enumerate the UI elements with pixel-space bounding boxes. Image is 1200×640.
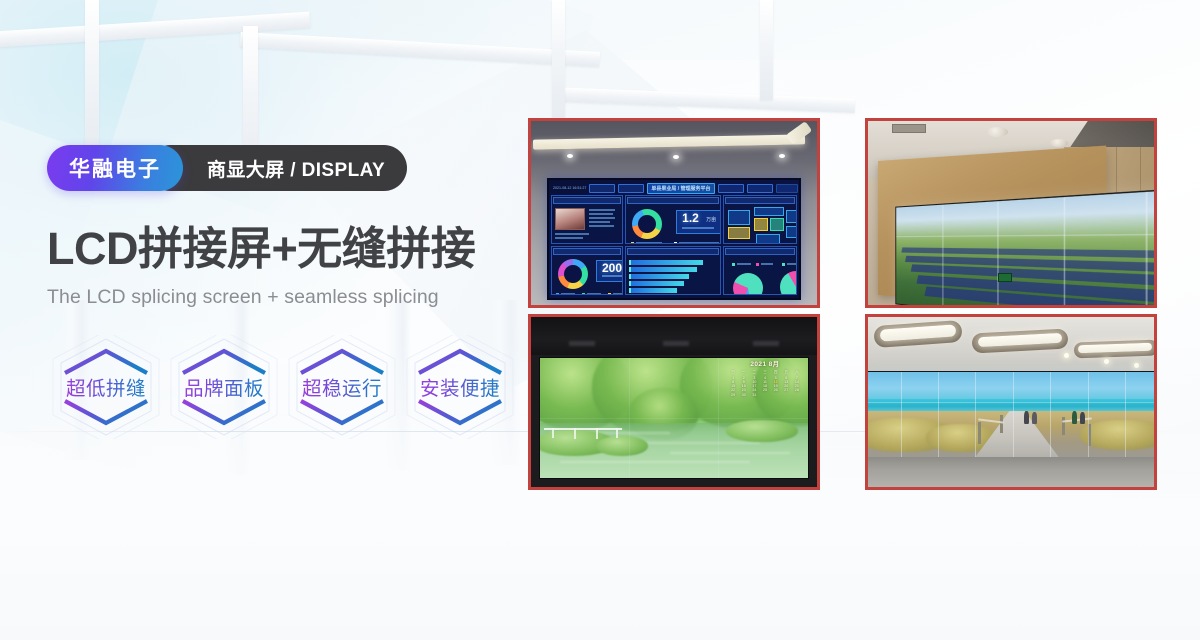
exit-sign (998, 273, 1012, 282)
dashboard-nav-chip (776, 184, 798, 193)
ceiling-downlight (567, 154, 573, 158)
calendar-day-grid: 1234567891011121314151617181920212223242… (728, 377, 802, 398)
page-subtitle: The LCD splicing screen + seamless splic… (47, 286, 527, 309)
feature-badge-1: 超低拼缝 (47, 335, 165, 439)
dashboard-panel-planting-scale: 2000 亩 (551, 246, 623, 295)
calendar-weekday: 二 (749, 371, 759, 375)
dashboard-title-chip: 单县果业局 / 管理服务平台 (647, 183, 714, 194)
background-beam-vertical-3 (552, 0, 565, 120)
feature-badge-label: 品牌面板 (184, 372, 264, 401)
background-beam-vertical-1 (85, 0, 99, 150)
sea-band (868, 399, 1154, 411)
ceiling-spotlight (1104, 359, 1109, 364)
banner-content: 商显大屏 / DISPLAY 华融电子 LCD拼接屏+无缝拼接 The LCD … (47, 145, 527, 439)
calendar-weekday: 一 (739, 371, 749, 375)
calendar-day: 28 (792, 389, 802, 393)
ceiling-dome-light (1050, 139, 1068, 147)
calendar-day: 27 (781, 389, 791, 393)
dashboard-kpi-value: 2000 (602, 261, 623, 275)
calendar-day: 25 (760, 389, 770, 393)
ceiling-downlight (673, 155, 679, 159)
dashboard-nav-chip (747, 184, 773, 193)
brand-badge: 商显大屏 / DISPLAY 华融电子 (47, 145, 527, 191)
feature-badge-label: 超低拼缝 (66, 372, 146, 401)
calendar-day: 29 (728, 394, 738, 398)
dashboard-panel-overview (551, 195, 623, 244)
dashboard-panel-grid: 1.2 万亩 (551, 195, 797, 295)
category-pill: 商显大屏 / DISPLAY (147, 145, 407, 191)
calendar-weekday: 四 (771, 371, 781, 375)
calendar-overlay: 2021 8月 日 一 二 三 四 五 六 123456789101112131… (728, 362, 802, 420)
background-facet-e (700, 520, 1080, 640)
calendar-title: 2021 8月 (728, 362, 802, 369)
dashboard-nav-chip (718, 184, 744, 193)
photo-beach-boardwalk-video-wall (865, 314, 1157, 490)
exhibition-room-scene: 2021-08-12 16:51:27 单县果业局 / 管理服务平台 (531, 121, 817, 305)
background-beam-horizontal-1 (0, 12, 310, 49)
lcd-video-wall (895, 184, 1154, 305)
dashboard-panel-planting-categories (625, 246, 721, 295)
background-beam-vertical-4 (760, 0, 773, 100)
feature-badge-label: 超稳运行 (302, 372, 382, 401)
promo-banner: 商显大屏 / DISPLAY 华融电子 LCD拼接屏+无缝拼接 The LCD … (0, 0, 1200, 640)
feature-badge-label: 安装便捷 (420, 372, 500, 401)
dashboard-nav-chip (618, 184, 644, 193)
wood-panel-room-scene (868, 121, 1154, 305)
photo-data-dashboard-video-wall: 2021-08-12 16:51:27 单县果业局 / 管理服务平台 (528, 118, 820, 308)
dashboard-kpi-value: 1.2 (682, 211, 699, 225)
dashboard-panel-yearly-stats (723, 246, 797, 295)
lcd-video-wall (868, 371, 1154, 463)
brand-pill: 华融电子 (47, 145, 183, 191)
ceiling-cove-light (533, 134, 805, 149)
dashboard-timestamp: 2021-08-12 16:51:27 (553, 183, 586, 194)
calendar-day: 26 (771, 389, 781, 393)
page-title: LCD拼接屏+无缝拼接 (47, 225, 527, 274)
polished-floor (868, 457, 1154, 487)
calendar-weekday: 五 (781, 371, 791, 375)
background-beam-horizontal-2 (240, 32, 600, 67)
lobby-room-scene (868, 317, 1154, 487)
photo-garden-lake-video-wall: 2021 8月 日 一 二 三 四 五 六 123456789101112131… (528, 314, 820, 490)
calendar-day: 30 (739, 394, 749, 398)
ceiling-spotlight (1064, 353, 1069, 358)
feature-badge-2: 品牌面板 (165, 335, 283, 439)
lcd-video-wall: 2021 8月 日 一 二 三 四 五 六 123456789101112131… (539, 357, 809, 479)
wood-display-frame (878, 146, 1106, 305)
feature-badge-list: 超低拼缝 品牌面板 (47, 335, 527, 439)
ceiling-downlight (779, 154, 785, 158)
feature-badge-4: 安装便捷 (401, 335, 519, 439)
dashboard-nav-chip (589, 184, 615, 193)
calendar-weekday: 六 (792, 371, 802, 375)
ceiling-vent (892, 124, 926, 133)
calendar-day: 31 (749, 394, 759, 398)
dashboard-kpi-unit: 万亩 (706, 216, 716, 223)
calendar-weekday: 三 (760, 371, 770, 375)
photo-solar-farm-video-wall (865, 118, 1157, 308)
dark-room-scene: 2021 8月 日 一 二 三 四 五 六 123456789101112131… (531, 317, 817, 487)
ceiling-dome-light (986, 127, 1008, 137)
dashboard-panel-area-stats: 1.2 万亩 (625, 195, 721, 244)
calendar-weekday-row: 日 一 二 三 四 五 六 (728, 371, 802, 375)
feature-badge-3: 超稳运行 (283, 335, 401, 439)
dashboard-screen: 2021-08-12 16:51:27 单县果业局 / 管理服务平台 (549, 180, 799, 298)
video-wall-top-bezel (531, 317, 817, 355)
lcd-video-wall: 2021-08-12 16:51:27 单县果业局 / 管理服务平台 (547, 178, 801, 300)
calendar-weekday: 日 (728, 371, 738, 375)
dashboard-panel-industry-chain (723, 195, 797, 244)
background-beam-horizontal-3 (555, 87, 855, 113)
ceiling-spotlight (1134, 363, 1139, 368)
dashboard-header: 2021-08-12 16:51:27 单县果业局 / 管理服务平台 (551, 182, 797, 195)
